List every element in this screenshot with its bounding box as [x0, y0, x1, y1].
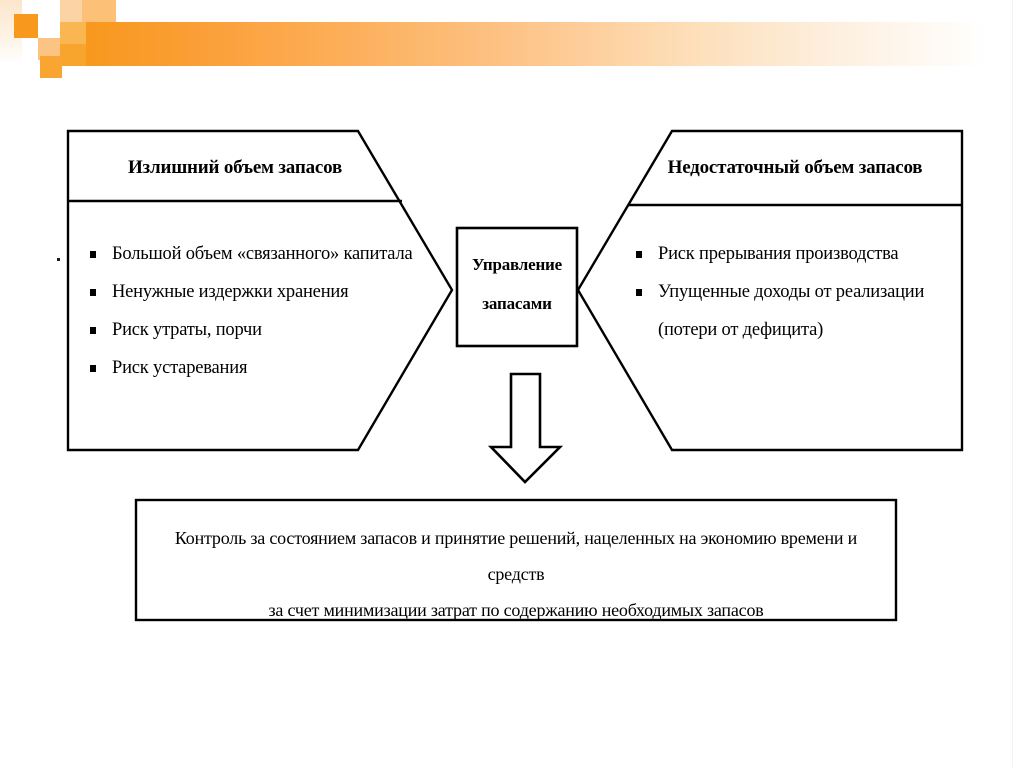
left-panel-bullet-list: Большой объем «связанного» капитала Нену… — [86, 235, 416, 387]
bullet-square-icon — [90, 365, 96, 372]
bottom-box-text: Контроль за состоянием запасов и приняти… — [146, 520, 886, 628]
center-box-label: Управление запасами — [458, 245, 576, 323]
list-item-label: Риск прерывания производства — [658, 244, 898, 264]
list-item: Риск утраты, порчи — [86, 311, 416, 349]
list-item: Ненужные издержки хранения — [86, 273, 416, 311]
right-panel-title: Недостаточный объем запасов — [628, 157, 962, 179]
bottom-box-line-1: Контроль за состоянием запасов и приняти… — [146, 520, 886, 592]
list-item-label: Риск утраты, порчи — [112, 320, 262, 340]
slide-canvas: Излишний объем запасов Недостаточный объ… — [0, 0, 1024, 767]
list-item: Большой объем «связанного» капитала — [86, 235, 416, 273]
bullet-square-icon — [636, 289, 642, 296]
list-item: Упущенные доходы от реализации — [632, 273, 962, 311]
list-item-label: Упущенные доходы от реализации — [658, 282, 924, 302]
bullet-square-icon — [90, 327, 96, 334]
bullet-square-icon — [636, 251, 642, 258]
list-item-label: Ненужные издержки хранения — [112, 282, 348, 302]
list-item-label: Риск устаревания — [112, 358, 247, 378]
right-panel-bullet-list: Риск прерывания производства Упущенные д… — [632, 235, 962, 349]
list-item: Риск устаревания — [86, 349, 416, 387]
left-panel-title: Излишний объем запасов — [68, 157, 402, 179]
bullet-square-icon — [90, 251, 96, 258]
stray-mark — [57, 258, 60, 261]
down-arrow-shape — [491, 374, 560, 482]
list-item-label: Большой объем «связанного» капитала — [112, 244, 413, 264]
list-item-label: (потери от дефицита) — [658, 320, 823, 340]
bottom-box-line-2: за счет минимизации затрат по содержанию… — [146, 592, 886, 628]
list-item-continuation: (потери от дефицита) — [632, 311, 962, 349]
center-box-line-2: запасами — [458, 284, 576, 323]
bullet-square-icon — [90, 289, 96, 296]
list-item: Риск прерывания производства — [632, 235, 962, 273]
center-box-line-1: Управление — [458, 245, 576, 284]
